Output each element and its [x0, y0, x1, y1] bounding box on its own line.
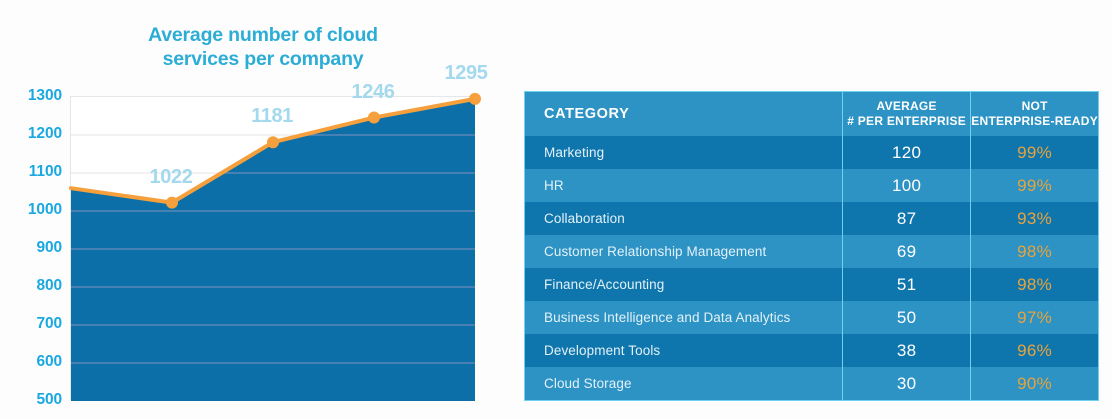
column-header-category-label: CATEGORY: [544, 106, 629, 122]
table-row[interactable]: Collaboration8793%: [525, 202, 1098, 235]
data-label-1295: 1295: [445, 62, 488, 85]
y-axis-tick-500: 500: [0, 391, 62, 409]
cell-average-per-enterprise: 100: [843, 169, 971, 202]
table-row[interactable]: HR10099%: [525, 169, 1098, 202]
chart-svg: [71, 97, 475, 401]
data-point-marker-1181: [267, 136, 279, 148]
cell-average-per-enterprise: 38: [843, 334, 971, 367]
y-axis-tick-1000: 1000: [0, 201, 62, 219]
column-header-category: CATEGORY: [525, 92, 843, 136]
chart-y-axis: 1300120011001000900800700600500: [0, 88, 62, 400]
cell-category: Customer Relationship Management: [525, 235, 843, 268]
y-axis-tick-700: 700: [0, 315, 62, 333]
data-label-1246: 1246: [352, 81, 395, 104]
cell-average-per-enterprise: 50: [843, 301, 971, 334]
table-row[interactable]: Marketing12099%: [525, 136, 1098, 169]
infographic-root: Average number of cloud services per com…: [0, 0, 1112, 419]
column-header-average-label: AVERAGE: [877, 99, 937, 113]
y-axis-tick-900: 900: [0, 239, 62, 257]
chart-plot-area: [70, 96, 474, 400]
y-axis-tick-800: 800: [0, 277, 62, 295]
data-point-marker-1022: [166, 197, 178, 209]
cell-category: Cloud Storage: [525, 367, 843, 400]
table-row[interactable]: Customer Relationship Management6998%: [525, 235, 1098, 268]
y-axis-tick-1300: 1300: [0, 87, 62, 105]
table-body: Marketing12099%HR10099%Collaboration8793…: [525, 136, 1098, 400]
cell-category: Marketing: [525, 136, 843, 169]
enterprise-readiness-table: CATEGORY AVERAGE # PER ENTERPRISE NOT EN…: [525, 92, 1098, 400]
data-label-1022: 1022: [150, 166, 193, 189]
cell-not-enterprise-ready: 93%: [971, 202, 1098, 235]
cell-category: Business Intelligence and Data Analytics: [525, 301, 843, 334]
cell-not-enterprise-ready: 96%: [971, 334, 1098, 367]
cell-not-enterprise-ready: 97%: [971, 301, 1098, 334]
table-row[interactable]: Development Tools3896%: [525, 334, 1098, 367]
cell-average-per-enterprise: 69: [843, 235, 971, 268]
cell-average-per-enterprise: 51: [843, 268, 971, 301]
column-header-not-enterprise-ready: NOT ENTERPRISE-READY: [971, 92, 1098, 136]
cloud-services-chart-panel: Average number of cloud services per com…: [0, 0, 512, 419]
table-row[interactable]: Finance/Accounting5198%: [525, 268, 1098, 301]
column-header-not-ready-sublabel: ENTERPRISE-READY: [971, 114, 1098, 129]
column-header-average-sublabel: # PER ENTERPRISE: [843, 114, 970, 129]
y-axis-tick-1200: 1200: [0, 125, 62, 143]
enterprise-readiness-table-panel: CATEGORY AVERAGE # PER ENTERPRISE NOT EN…: [524, 91, 1099, 401]
data-point-marker-1246: [368, 112, 380, 124]
cell-average-per-enterprise: 120: [843, 136, 971, 169]
column-header-not-ready-label: NOT: [1022, 99, 1048, 113]
cell-average-per-enterprise: 87: [843, 202, 971, 235]
cell-not-enterprise-ready: 98%: [971, 235, 1098, 268]
cell-category: Finance/Accounting: [525, 268, 843, 301]
cell-category: HR: [525, 169, 843, 202]
data-label-1181: 1181: [251, 105, 293, 128]
table-head: CATEGORY AVERAGE # PER ENTERPRISE NOT EN…: [525, 92, 1098, 136]
cell-not-enterprise-ready: 99%: [971, 169, 1098, 202]
y-axis-tick-600: 600: [0, 353, 62, 371]
cell-not-enterprise-ready: 99%: [971, 136, 1098, 169]
cell-category: Development Tools: [525, 334, 843, 367]
cell-category: Collaboration: [525, 202, 843, 235]
cell-not-enterprise-ready: 90%: [971, 367, 1098, 400]
y-axis-tick-1100: 1100: [0, 163, 62, 181]
cell-not-enterprise-ready: 98%: [971, 268, 1098, 301]
chart-title: Average number of cloud services per com…: [108, 24, 418, 72]
data-point-marker-1295: [469, 93, 481, 105]
table-header-row: CATEGORY AVERAGE # PER ENTERPRISE NOT EN…: [525, 92, 1098, 136]
column-header-average: AVERAGE # PER ENTERPRISE: [843, 92, 971, 136]
cell-average-per-enterprise: 30: [843, 367, 971, 400]
table-row[interactable]: Business Intelligence and Data Analytics…: [525, 301, 1098, 334]
table-row[interactable]: Cloud Storage3090%: [525, 367, 1098, 400]
